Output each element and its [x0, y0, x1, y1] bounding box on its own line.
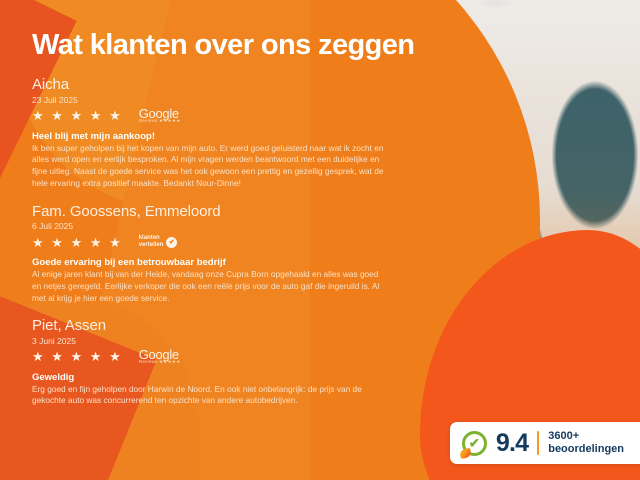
google-reviews-logo: Google Reviews ★★★★★ [139, 107, 181, 124]
star-rating-icon: ★ ★ ★ ★ ★ [32, 236, 123, 249]
review-date: 6 Juli 2025 [32, 221, 420, 231]
shield-check: ✔ [469, 436, 480, 449]
review-meta: ★ ★ ★ ★ ★ Google Reviews ★★★★★ [32, 349, 420, 365]
content-column: Wat klanten over ons zeggen Aicha 23 Jul… [0, 0, 420, 480]
rating-score: 9.4 [496, 431, 528, 456]
review-item: Aicha 23 Juli 2025 ★ ★ ★ ★ ★ Google Revi… [32, 76, 420, 189]
star-rating-icon: ★ ★ ★ ★ ★ [32, 350, 123, 363]
review-headline: Geweldig [32, 372, 420, 383]
klantenvertellen-shield-icon: ✔ [462, 431, 487, 456]
testimonial-banner: VDH Wat klanten over ons zeggen Aicha 23… [0, 0, 640, 480]
rating-count-label: beoordelingen [548, 443, 624, 456]
klantenvertellen-logo-text: klanten vertellen [139, 235, 164, 249]
klantenvertellen-line1: klanten [139, 235, 164, 242]
klantenvertellen-line2: vertellen [139, 242, 164, 249]
rating-count-block: 3600+ beoordelingen [548, 430, 624, 456]
google-reviews-logo: Google Reviews ★★★★★ [139, 348, 181, 365]
klantenvertellen-logo: klanten vertellen ✔ [139, 235, 178, 249]
review-text: Ik ben super geholpen bij het kopen van … [32, 143, 387, 190]
rating-divider [537, 431, 539, 455]
review-headline: Goede ervaring bij een betrouwbaar bedri… [32, 257, 420, 268]
review-author: Aicha [32, 76, 420, 93]
review-text: Al enige jaren klant bij van der Heide, … [32, 269, 387, 304]
review-headline: Heel blij met mijn aankoop! [32, 131, 420, 142]
review-author: Fam. Goossens, Emmeloord [32, 203, 420, 220]
review-date: 3 Juni 2025 [32, 336, 420, 346]
star-rating-icon: ★ ★ ★ ★ ★ [32, 109, 123, 122]
page-title: Wat klanten over ons zeggen [32, 30, 420, 60]
review-meta: ★ ★ ★ ★ ★ Google Reviews ★★★★★ [32, 108, 420, 124]
review-author: Piet, Assen [32, 317, 420, 334]
review-text: Erg goed en fijn geholpen door Harwin de… [32, 384, 387, 408]
review-date: 23 Juli 2025 [32, 95, 420, 105]
shield-flame [459, 447, 472, 458]
google-logo-subtext: Reviews ★★★★★ [139, 360, 181, 365]
check-circle-icon: ✔ [166, 237, 177, 248]
overall-rating-badge: ✔ 9.4 3600+ beoordelingen [450, 422, 640, 464]
google-logo-subtext: Reviews ★★★★★ [139, 119, 181, 124]
rating-count-value: 3600+ [548, 430, 624, 443]
review-item: Fam. Goossens, Emmeloord 6 Juli 2025 ★ ★… [32, 203, 420, 305]
review-meta: ★ ★ ★ ★ ★ klanten vertellen ✔ [32, 234, 420, 250]
review-item: Piet, Assen 3 Juni 2025 ★ ★ ★ ★ ★ Google… [32, 317, 420, 407]
